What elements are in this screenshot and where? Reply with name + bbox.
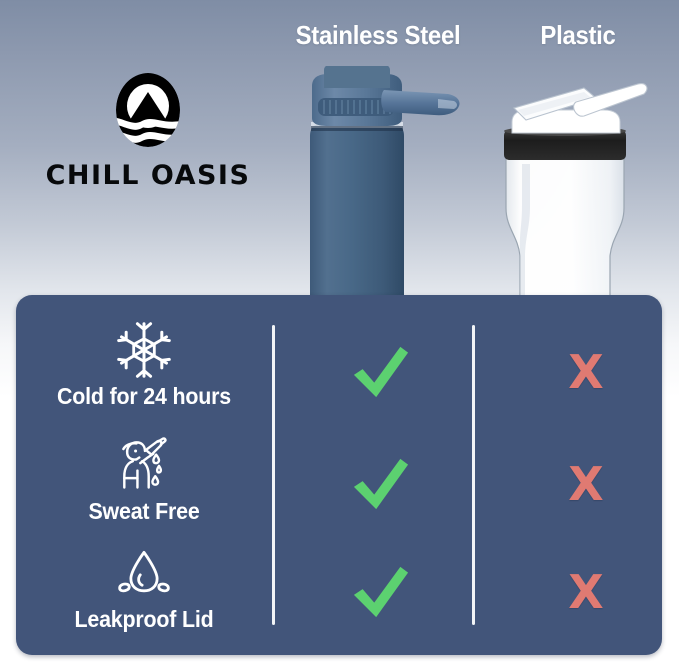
mountain-wave-circle-logo-icon <box>112 70 184 150</box>
feature-row: Sweat Free <box>16 435 272 524</box>
plastic-mark-cold: X <box>526 343 646 401</box>
steel-mark-leakproof <box>321 563 441 621</box>
column-divider-1 <box>272 325 275 625</box>
feature-row: Cold for 24 hours <box>16 320 272 409</box>
x-icon: X <box>526 343 646 401</box>
feature-label: Leakproof Lid <box>25 607 263 632</box>
comparison-infographic: Stainless Steel Plastic CHILL OASIS <box>0 0 679 662</box>
feature-label: Sweat Free <box>25 499 263 524</box>
feature-label: Cold for 24 hours <box>25 384 263 409</box>
x-icon: X <box>526 563 646 621</box>
column-divider-2 <box>472 325 475 625</box>
plastic-bottle-image <box>492 78 652 306</box>
snowflake-icon <box>114 320 174 380</box>
check-icon <box>350 455 412 513</box>
x-icon: X <box>526 455 646 513</box>
steel-mark-sweat <box>321 455 441 513</box>
sweating-person-icon <box>114 435 174 495</box>
check-icon <box>350 563 412 621</box>
plastic-mark-leakproof: X <box>526 563 646 621</box>
brand-name: CHILL OASIS <box>38 160 258 191</box>
feature-row: Leakproof Lid <box>16 543 272 632</box>
brand-block: CHILL OASIS <box>38 70 258 191</box>
check-icon <box>350 343 412 401</box>
stainless-steel-bottle-image <box>288 66 478 306</box>
column-header-stainless-steel: Stainless Steel <box>258 20 497 51</box>
comparison-panel: Cold for 24 hours <box>16 295 662 655</box>
water-droplet-icon <box>114 543 174 603</box>
steel-mark-cold <box>321 343 441 401</box>
plastic-mark-sweat: X <box>526 455 646 513</box>
column-header-plastic: Plastic <box>477 20 679 51</box>
